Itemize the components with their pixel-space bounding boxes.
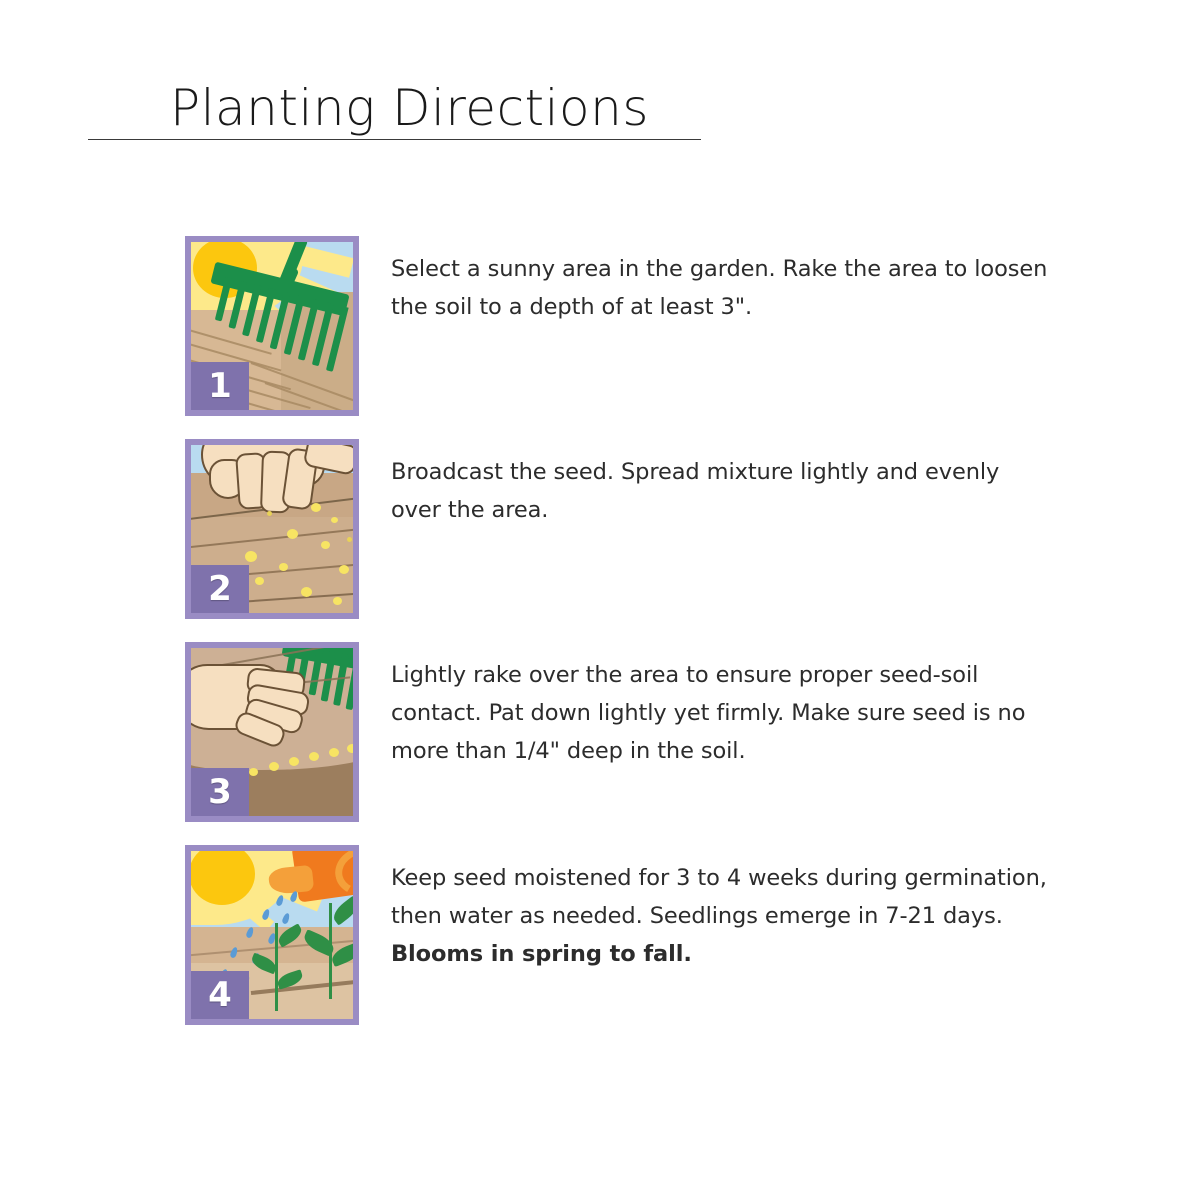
- seed: [279, 563, 288, 571]
- step-4-text: Keep seed moistened for 3 to 4 weeks dur…: [391, 859, 1051, 973]
- seed: [287, 529, 298, 539]
- seed: [255, 577, 264, 585]
- step-3-text: Lightly rake over the area to ensure pro…: [391, 656, 1051, 770]
- title-block: Planting Directions: [88, 78, 703, 140]
- seed: [269, 762, 279, 771]
- seed: [339, 565, 349, 574]
- step-number-badge: 4: [191, 971, 249, 1019]
- seed: [249, 768, 258, 776]
- seed: [267, 511, 272, 516]
- seed: [347, 744, 353, 753]
- step-1-illustration: 1: [185, 236, 359, 416]
- seedling-leaf: [275, 923, 304, 947]
- hand-patting: [191, 664, 335, 756]
- step-number-badge: 2: [191, 565, 249, 613]
- step-4-illustration: 4: [185, 845, 359, 1025]
- seedling: [303, 903, 353, 1003]
- seed: [331, 517, 338, 523]
- step-number-badge: 1: [191, 362, 249, 410]
- seed: [309, 752, 319, 761]
- seed: [245, 551, 257, 562]
- seed: [289, 757, 299, 766]
- hand-broadcasting: [195, 445, 353, 533]
- title-underline-rule: [88, 139, 701, 140]
- step-number-badge: 3: [191, 768, 249, 816]
- seed: [321, 541, 330, 549]
- step-2-illustration: 2: [185, 439, 359, 619]
- seed: [333, 597, 342, 605]
- step-2-text: Broadcast the seed. Spread mixture light…: [391, 453, 1051, 529]
- seed: [329, 748, 339, 757]
- seed: [311, 503, 321, 512]
- seed: [301, 587, 312, 597]
- step-3-illustration: 3: [185, 642, 359, 822]
- step-1-text: Select a sunny area in the garden. Rake …: [391, 250, 1051, 326]
- seed: [347, 537, 352, 542]
- seedling-leaf: [276, 969, 305, 989]
- page-title: Planting Directions: [88, 78, 703, 138]
